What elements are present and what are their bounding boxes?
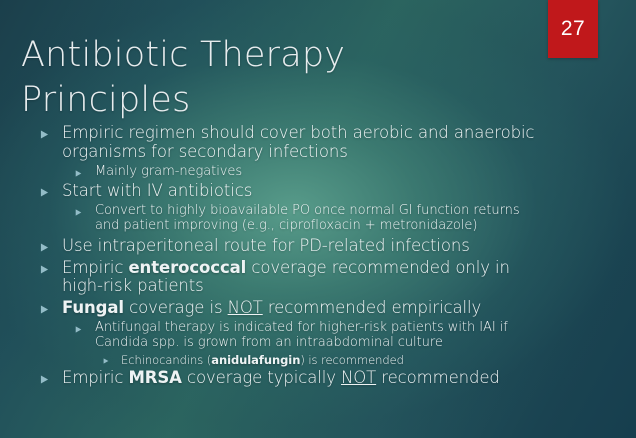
list-item: Empiric MRSA coverage typically NOT reco…	[40, 369, 540, 388]
list-item-text: Convert to highly bioavailable PO once n…	[95, 204, 540, 234]
list-item-text: Antifungal therapy is indicated for high…	[95, 321, 540, 351]
list-item: Empiric regimen should cover both aerobi…	[40, 124, 540, 162]
triangle-right-bullet-icon	[75, 165, 95, 177]
slide-number-text: 27	[561, 17, 585, 41]
list-item: Start with IV antibiotics	[40, 182, 540, 201]
triangle-right-bullet-icon	[75, 204, 95, 216]
triangle-right-bullet-icon	[40, 369, 62, 384]
list-item: Empiric enterococcal coverage recommende…	[40, 259, 540, 297]
list-item-text: Start with IV antibiotics	[62, 182, 540, 201]
triangle-right-bullet-icon	[103, 354, 121, 364]
triangle-right-bullet-icon	[40, 237, 62, 252]
list-item-text: Empiric regimen should cover both aerobi…	[62, 124, 540, 162]
list-item: Mainly gram-negatives	[75, 165, 540, 180]
presentation-slide: 27 Antibiotic Therapy Principles Empiric…	[0, 0, 636, 438]
triangle-right-bullet-icon	[40, 182, 62, 197]
triangle-right-bullet-icon	[40, 124, 62, 139]
list-item: Use intraperitoneal route for PD-related…	[40, 237, 540, 256]
slide-number-badge: 27	[548, 0, 598, 58]
list-item-text: Fungal coverage is NOT recommended empir…	[62, 299, 540, 318]
list-item-text: Empiric MRSA coverage typically NOT reco…	[62, 369, 540, 388]
triangle-right-bullet-icon	[40, 299, 62, 314]
list-item-text: Use intraperitoneal route for PD-related…	[62, 237, 540, 256]
list-item: Convert to highly bioavailable PO once n…	[75, 204, 540, 234]
list-item: Antifungal therapy is indicated for high…	[75, 321, 540, 351]
list-item-text: Empiric enterococcal coverage recommende…	[62, 259, 540, 297]
triangle-right-bullet-icon	[75, 321, 95, 333]
list-item: Fungal coverage is NOT recommended empir…	[40, 299, 540, 318]
list-item: Echinocandins (anidulafungin) is recomme…	[103, 354, 540, 367]
triangle-right-bullet-icon	[40, 259, 62, 274]
list-item-text: Echinocandins (anidulafungin) is recomme…	[121, 354, 540, 367]
page-title: Antibiotic Therapy Principles	[21, 33, 541, 123]
list-item-text: Mainly gram-negatives	[95, 165, 540, 180]
slide-body-list: Empiric regimen should cover both aerobi…	[40, 124, 540, 391]
